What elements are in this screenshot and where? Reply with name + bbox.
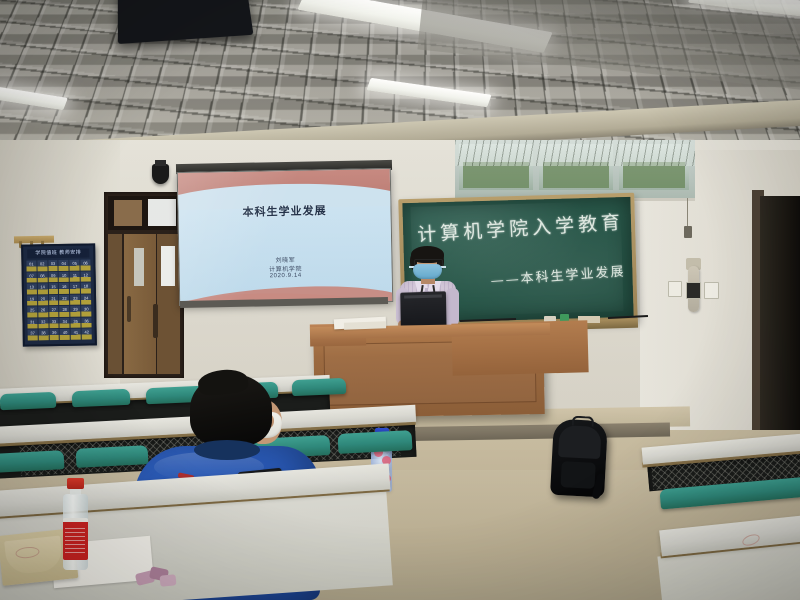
- screen-glare: [178, 169, 392, 305]
- duty-roster-cell: 33: [49, 318, 59, 329]
- duty-roster-title: 学院值班 教师安排: [27, 248, 89, 258]
- duty-roster-cell: 03: [48, 260, 58, 271]
- duty-roster-cell: 08: [37, 272, 47, 283]
- duty-roster-cell: 20: [38, 295, 48, 306]
- door-leaf-left[interactable]: [108, 234, 122, 374]
- duty-roster-cell: 41: [71, 329, 81, 340]
- duty-roster-cell: 24: [81, 294, 91, 305]
- door-handle[interactable]: [153, 304, 158, 338]
- duty-roster-cell: 13: [27, 284, 37, 295]
- duty-roster-cell: 35: [71, 317, 81, 328]
- classroom-door[interactable]: [104, 192, 184, 378]
- duty-roster-cell: 22: [59, 295, 69, 306]
- security-camera-mount: [155, 160, 166, 166]
- door-window-pane: [161, 246, 175, 286]
- duty-roster-board: 学院值班 教师安排 010203040506070809101112131415…: [21, 243, 97, 346]
- duty-roster-cell: 02: [37, 260, 47, 271]
- candy-wrapper: [159, 574, 176, 587]
- projection-screen: 本科生学业发展 刘晓军 计算机学院 2020.9.14: [177, 168, 394, 306]
- bottle-cap: [67, 478, 84, 489]
- bench-seat: [72, 389, 131, 408]
- duty-roster-cell: 01: [26, 260, 36, 271]
- duty-roster-cell: 14: [38, 283, 48, 294]
- duty-roster-cell: 06: [81, 259, 91, 270]
- duty-roster-cell: 29: [71, 306, 81, 317]
- backpack: [550, 419, 608, 498]
- candy-wrappers: [136, 566, 178, 588]
- duty-roster-cell: 23: [70, 294, 80, 305]
- duty-roster-cell: 11: [70, 271, 80, 282]
- duty-roster-cell: 05: [70, 260, 80, 271]
- presenter-arm-right: [446, 288, 459, 326]
- bench-seat: [0, 450, 64, 473]
- coat-hook-rail: [14, 236, 54, 244]
- duty-roster-cell: 34: [60, 318, 70, 329]
- duty-roster-cell: 16: [59, 283, 69, 294]
- duty-roster-cell: 32: [38, 318, 48, 329]
- backpack-flap: [558, 425, 602, 459]
- duty-roster-cell: 30: [81, 306, 91, 317]
- bench-seat: [0, 392, 56, 410]
- duty-roster-cell: 09: [48, 272, 58, 283]
- classroom-window: [455, 140, 695, 201]
- papers-on-podium: [344, 321, 386, 329]
- door-leaf-center[interactable]: [124, 234, 156, 374]
- duty-roster-cell: 19: [27, 295, 37, 306]
- duty-roster-cell: 40: [60, 329, 70, 340]
- duty-roster-cell: 42: [82, 329, 92, 340]
- duty-roster-cell: 26: [38, 306, 48, 317]
- wall-switch-plate[interactable]: [668, 281, 682, 297]
- duty-roster-cell: 07: [27, 272, 37, 283]
- duty-roster-cell: 21: [49, 295, 59, 306]
- student-collar: [194, 440, 260, 460]
- door-handle[interactable]: [127, 296, 131, 322]
- classroom-photo: 学院值班 教师安排 010203040506070809101112131415…: [0, 0, 800, 600]
- water-bottle-red: [62, 478, 89, 570]
- duty-roster-cell: 12: [81, 271, 91, 282]
- duty-roster-cell: 28: [60, 306, 70, 317]
- door-transom-window: [108, 196, 180, 230]
- transom-pane: [148, 199, 176, 226]
- duty-roster-cell: 17: [70, 283, 80, 294]
- duty-roster-cell: 38: [38, 330, 48, 341]
- security-camera-icon: [152, 164, 169, 184]
- wall-switch-plate[interactable]: [704, 282, 719, 299]
- wall-outlet-plate[interactable]: [686, 282, 701, 299]
- duty-roster-cell: 27: [49, 306, 59, 317]
- transom-pane: [114, 200, 142, 226]
- duty-roster-cell: 04: [59, 260, 69, 271]
- sensor-wire: [687, 198, 688, 228]
- window-grille: [455, 140, 695, 166]
- duty-roster-cell: 10: [59, 271, 69, 282]
- duty-roster-cell: 36: [82, 317, 92, 328]
- presenter-face-mask: [413, 264, 442, 279]
- duty-roster-cell: 37: [28, 330, 38, 341]
- wall-sensor: [684, 226, 692, 238]
- duty-roster-cell: 25: [27, 307, 37, 318]
- laptop-screen-glow: [404, 294, 442, 298]
- door-window-pane: [134, 248, 144, 286]
- duty-roster-cell: 39: [49, 329, 59, 340]
- duty-roster-cell: 15: [48, 283, 58, 294]
- bottle-neck: [70, 488, 81, 495]
- bottle-label-text: [65, 528, 85, 554]
- duty-roster-grid: 0102030405060708091011121314151617181920…: [26, 259, 91, 340]
- duty-roster-cell: 18: [81, 283, 91, 294]
- backpack-pocket: [560, 461, 595, 489]
- duty-roster-cell: 31: [27, 318, 37, 329]
- door-leaf-right[interactable]: [157, 234, 180, 374]
